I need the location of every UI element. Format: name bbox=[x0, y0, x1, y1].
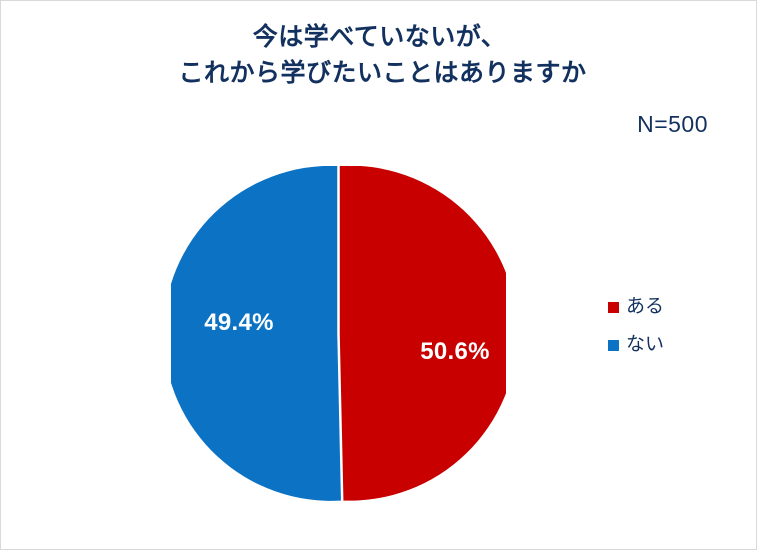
legend-swatch-blue-icon bbox=[608, 340, 619, 351]
legend-item-aru[interactable]: ある bbox=[608, 297, 664, 317]
legend-item-nai[interactable]: ない bbox=[608, 335, 664, 355]
sample-size-label: N=500 bbox=[637, 111, 708, 138]
pie-label-nai: 49.4% bbox=[179, 309, 299, 337]
title-line-1: 今は学べていないが、 bbox=[1, 19, 757, 55]
pie-label-aru: 50.6% bbox=[395, 338, 515, 366]
legend: ある ない bbox=[608, 297, 664, 355]
pie-chart-card: 今は学べていないが、 これから学びたいことはありますか N=500 49.4% … bbox=[0, 0, 757, 550]
pie-chart: 49.4% 50.6% bbox=[171, 166, 506, 501]
legend-label-nai: ない bbox=[626, 335, 664, 355]
legend-swatch-red-icon bbox=[608, 302, 619, 313]
legend-label-aru: ある bbox=[626, 297, 664, 317]
page-title: 今は学べていないが、 これから学びたいことはありますか bbox=[1, 19, 757, 91]
pie-slice-aru[interactable] bbox=[339, 166, 507, 501]
title-line-2: これから学びたいことはありますか bbox=[1, 55, 757, 91]
